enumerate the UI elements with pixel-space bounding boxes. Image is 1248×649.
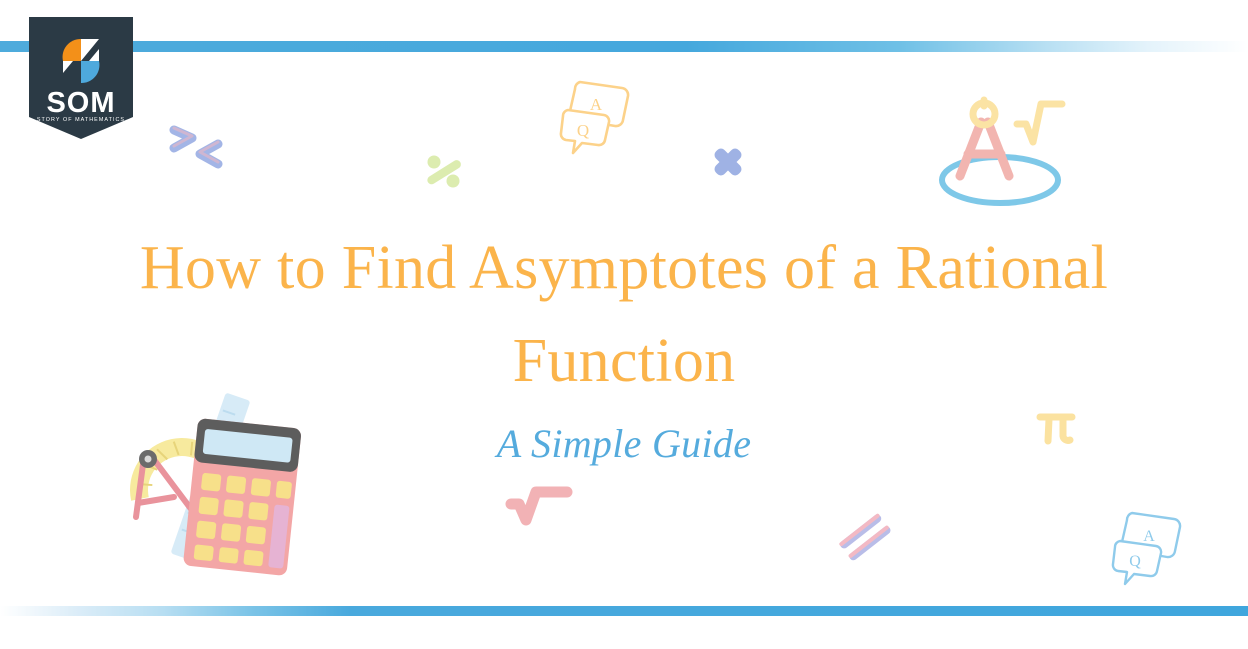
- article-header-banner: SOM STORY OF MATHEMATICS: [0, 0, 1248, 649]
- som-logo[interactable]: SOM STORY OF MATHEMATICS: [29, 17, 133, 139]
- equals-sign-icon: [836, 512, 894, 562]
- svg-text:Q: Q: [577, 121, 589, 140]
- compass-circle-icon: [938, 92, 1088, 214]
- bottom-accent-rule: [0, 606, 1248, 616]
- headline-block: How to Find Asymptotes of a Rational Fun…: [50, 222, 1198, 466]
- svg-text:A: A: [1143, 528, 1155, 545]
- qa-speech-bubble-icon-bottom: A Q: [1104, 505, 1188, 583]
- page-title: How to Find Asymptotes of a Rational Fun…: [50, 222, 1198, 408]
- top-accent-rule: [0, 41, 1248, 52]
- svg-text:A: A: [590, 95, 603, 114]
- division-sign-icon: [422, 150, 468, 192]
- square-root-icon-bottom: [505, 480, 575, 530]
- som-logo-tagline: STORY OF MATHEMATICS: [29, 118, 133, 123]
- greater-less-than-icon: [168, 122, 228, 170]
- qa-speech-bubble-icon-top: A Q: [552, 74, 636, 152]
- som-s-monogram-icon: [55, 37, 107, 85]
- svg-text:Q: Q: [1129, 553, 1141, 570]
- page-subtitle: A Simple Guide: [50, 422, 1198, 466]
- multiply-cross-icon: [706, 140, 750, 184]
- som-logo-wordmark: SOM: [29, 89, 133, 118]
